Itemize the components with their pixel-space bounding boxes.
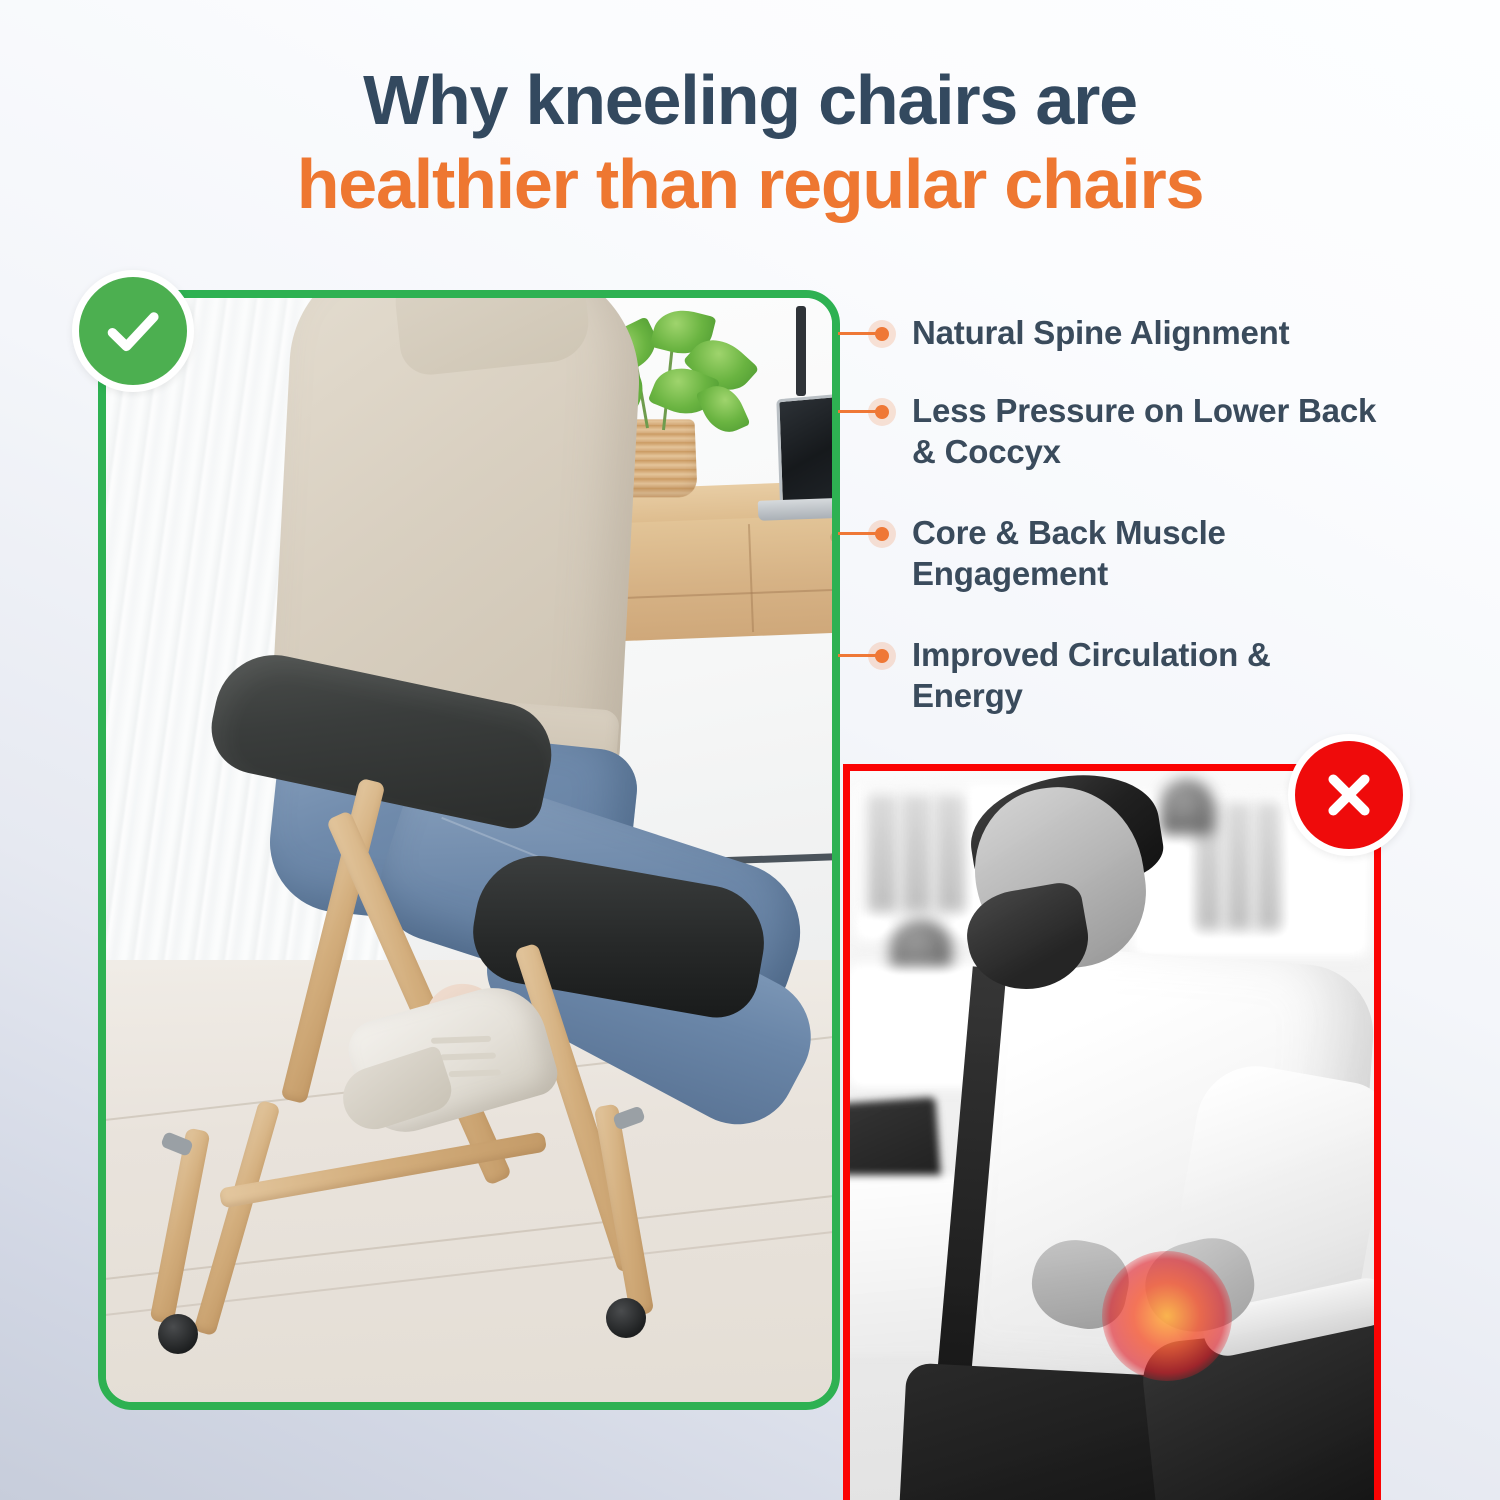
- kneeling-chair-photo: [106, 298, 832, 1402]
- benefit-item: Natural Spine Alignment: [838, 316, 1289, 353]
- benefit-label: Improved Circulation & Energy: [912, 634, 1382, 716]
- title-line-primary: Why kneeling chairs are: [0, 58, 1500, 142]
- infographic-canvas: Why kneeling chairs are healthier than r…: [0, 0, 1500, 1500]
- bullet-connector: [838, 516, 912, 550]
- benefit-label: Natural Spine Alignment: [912, 312, 1289, 353]
- chair-foot-cap: [606, 1298, 646, 1338]
- monitor-stand: [796, 306, 806, 396]
- good-example-panel: [98, 290, 840, 1410]
- bad-example-panel: [843, 764, 1381, 1500]
- chair-foot-cap: [158, 1314, 198, 1354]
- title-line-accent: healthier than regular chairs: [0, 142, 1500, 226]
- bullet-dot: [875, 527, 889, 541]
- bullet-connector: [838, 394, 912, 428]
- office-binder: [1256, 801, 1282, 931]
- bullet-dot: [875, 649, 889, 663]
- benefit-label: Less Pressure on Lower Back & Coccyx: [912, 390, 1382, 472]
- pain-highlight: [1102, 1251, 1232, 1381]
- benefit-label: Core & Back Muscle Engagement: [912, 512, 1382, 594]
- benefit-item: Improved Circulation & Energy: [838, 638, 1382, 716]
- bullet-dot: [875, 405, 889, 419]
- x-icon: [1288, 734, 1410, 856]
- benefit-item: Core & Back Muscle Engagement: [838, 516, 1382, 594]
- benefit-item: Less Pressure on Lower Back & Coccyx: [838, 394, 1382, 472]
- back-pain-photo: [850, 771, 1374, 1500]
- page-title: Why kneeling chairs are healthier than r…: [0, 58, 1500, 226]
- office-binder: [936, 793, 966, 913]
- office-binder: [868, 793, 898, 913]
- bullet-connector: [838, 316, 912, 350]
- office-plant: [1160, 779, 1214, 835]
- bullet-connector: [838, 638, 912, 672]
- office-binder: [902, 793, 932, 913]
- office-binder: [1226, 801, 1252, 931]
- bullet-dot: [875, 327, 889, 341]
- check-icon: [72, 270, 194, 392]
- laptop-screen: [776, 388, 832, 509]
